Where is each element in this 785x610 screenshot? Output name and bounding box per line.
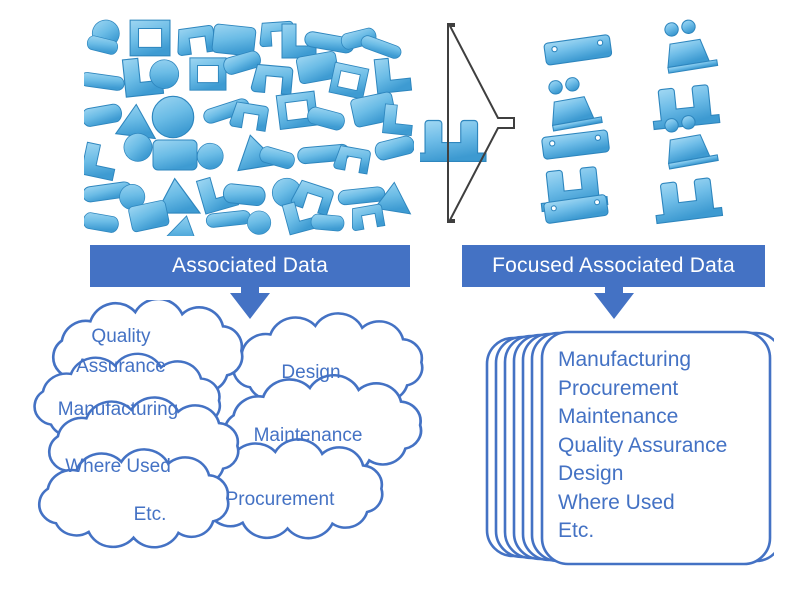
down-arrow-left-icon [230, 293, 270, 319]
diagram-canvas: Associated Data Focused Associated Data [0, 0, 785, 610]
list-item: Quality Assurance [558, 432, 768, 461]
cloud-group: Quality Assurance Design Manufacturing M… [8, 300, 458, 575]
down-arrow-right-icon [594, 293, 634, 319]
focused-data-list: Manufacturing Procurement Maintenance Qu… [558, 346, 768, 546]
list-item: Design [558, 460, 768, 489]
list-item: Where Used [558, 489, 768, 518]
focused-associated-data-banner-label: Focused Associated Data [492, 254, 735, 278]
cloud-label-quality: Quality [91, 326, 151, 347]
list-item: Etc. [558, 517, 768, 546]
cloud-label-design: Design [281, 362, 340, 383]
cloud-label-assurance: Assurance [76, 356, 166, 377]
list-item: Manufacturing [558, 346, 768, 375]
cloud-label-procurement: Procurement [226, 489, 335, 510]
cloud-label-maintenance: Maintenance [254, 425, 363, 446]
list-item: Maintenance [558, 403, 768, 432]
list-item: Procurement [558, 375, 768, 404]
associated-data-banner[interactable]: Associated Data [90, 245, 410, 287]
focused-associated-data-banner[interactable]: Focused Associated Data [462, 245, 765, 287]
parts-cluster-artwork [84, 14, 414, 236]
associated-data-banner-label: Associated Data [172, 254, 328, 278]
cloud-label-manufacturing: Manufacturing [58, 399, 178, 420]
cloud-label-where-used: Where Used [65, 456, 171, 477]
funnel-brace-icon [440, 18, 520, 228]
cloud-label-etc: Etc. [134, 504, 167, 525]
